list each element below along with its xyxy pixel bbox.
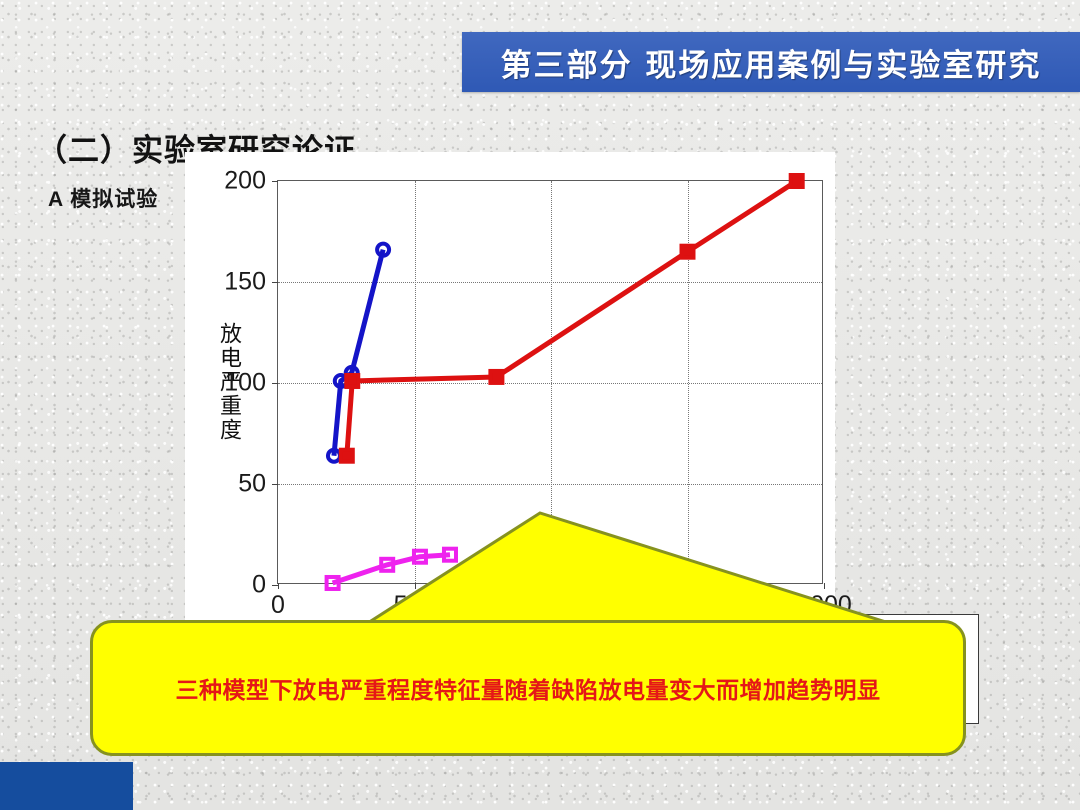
x-tick-mark — [551, 583, 552, 589]
y-tick-mark — [272, 383, 278, 384]
series-marker — [341, 450, 353, 462]
x-tick-label: 1500 — [660, 591, 716, 620]
footer-accent-tab — [0, 762, 133, 810]
callout-box: 三种模型下放电严重程度特征量随着缺陷放电量变大而增加趋势明显 — [90, 620, 966, 756]
series-marker — [791, 175, 803, 187]
y-tick-label: 200 — [224, 167, 266, 196]
section-header-banner: 第三部分 现场应用案例与实验室研究 — [462, 32, 1080, 92]
series-line — [334, 250, 383, 456]
x-tick-label: 500 — [394, 591, 436, 620]
series-marker — [490, 371, 502, 383]
chart-panel: 放电严重度 放电量/pC 050100150200 05001000150020… — [185, 152, 835, 622]
slide-background: 第三部分 现场应用案例与实验室研究 （二）实验室研究论证 A 模拟试验 放电严重… — [0, 0, 1080, 810]
y-tick-label: 50 — [238, 470, 266, 499]
y-tick-mark — [272, 484, 278, 485]
y-tick-label: 100 — [224, 369, 266, 398]
sub-title: A 模拟试验 — [48, 183, 158, 213]
data-series-layer — [277, 180, 823, 584]
y-tick-mark — [272, 181, 278, 182]
section-header-text: 第三部分 现场应用案例与实验室研究 — [501, 40, 1042, 85]
x-tick-mark — [415, 583, 416, 589]
x-tick-mark — [688, 583, 689, 589]
y-tick-mark — [272, 282, 278, 283]
x-tick-mark — [278, 583, 279, 589]
series-marker — [377, 244, 389, 256]
x-tick-mark — [824, 583, 825, 589]
series-marker — [682, 246, 694, 258]
series-line — [347, 181, 797, 456]
y-tick-label: 150 — [224, 268, 266, 297]
series-marker — [328, 450, 340, 462]
callout-text: 三种模型下放电严重程度特征量随着缺陷放电量变大而增加趋势明显 — [176, 671, 881, 705]
series-marker — [346, 375, 358, 387]
x-tick-label: 1000 — [523, 591, 579, 620]
plot-area: 050100150200 0500100015002000 — [277, 180, 823, 584]
x-tick-label: 0 — [271, 591, 285, 620]
y-tick-label: 0 — [252, 571, 266, 600]
